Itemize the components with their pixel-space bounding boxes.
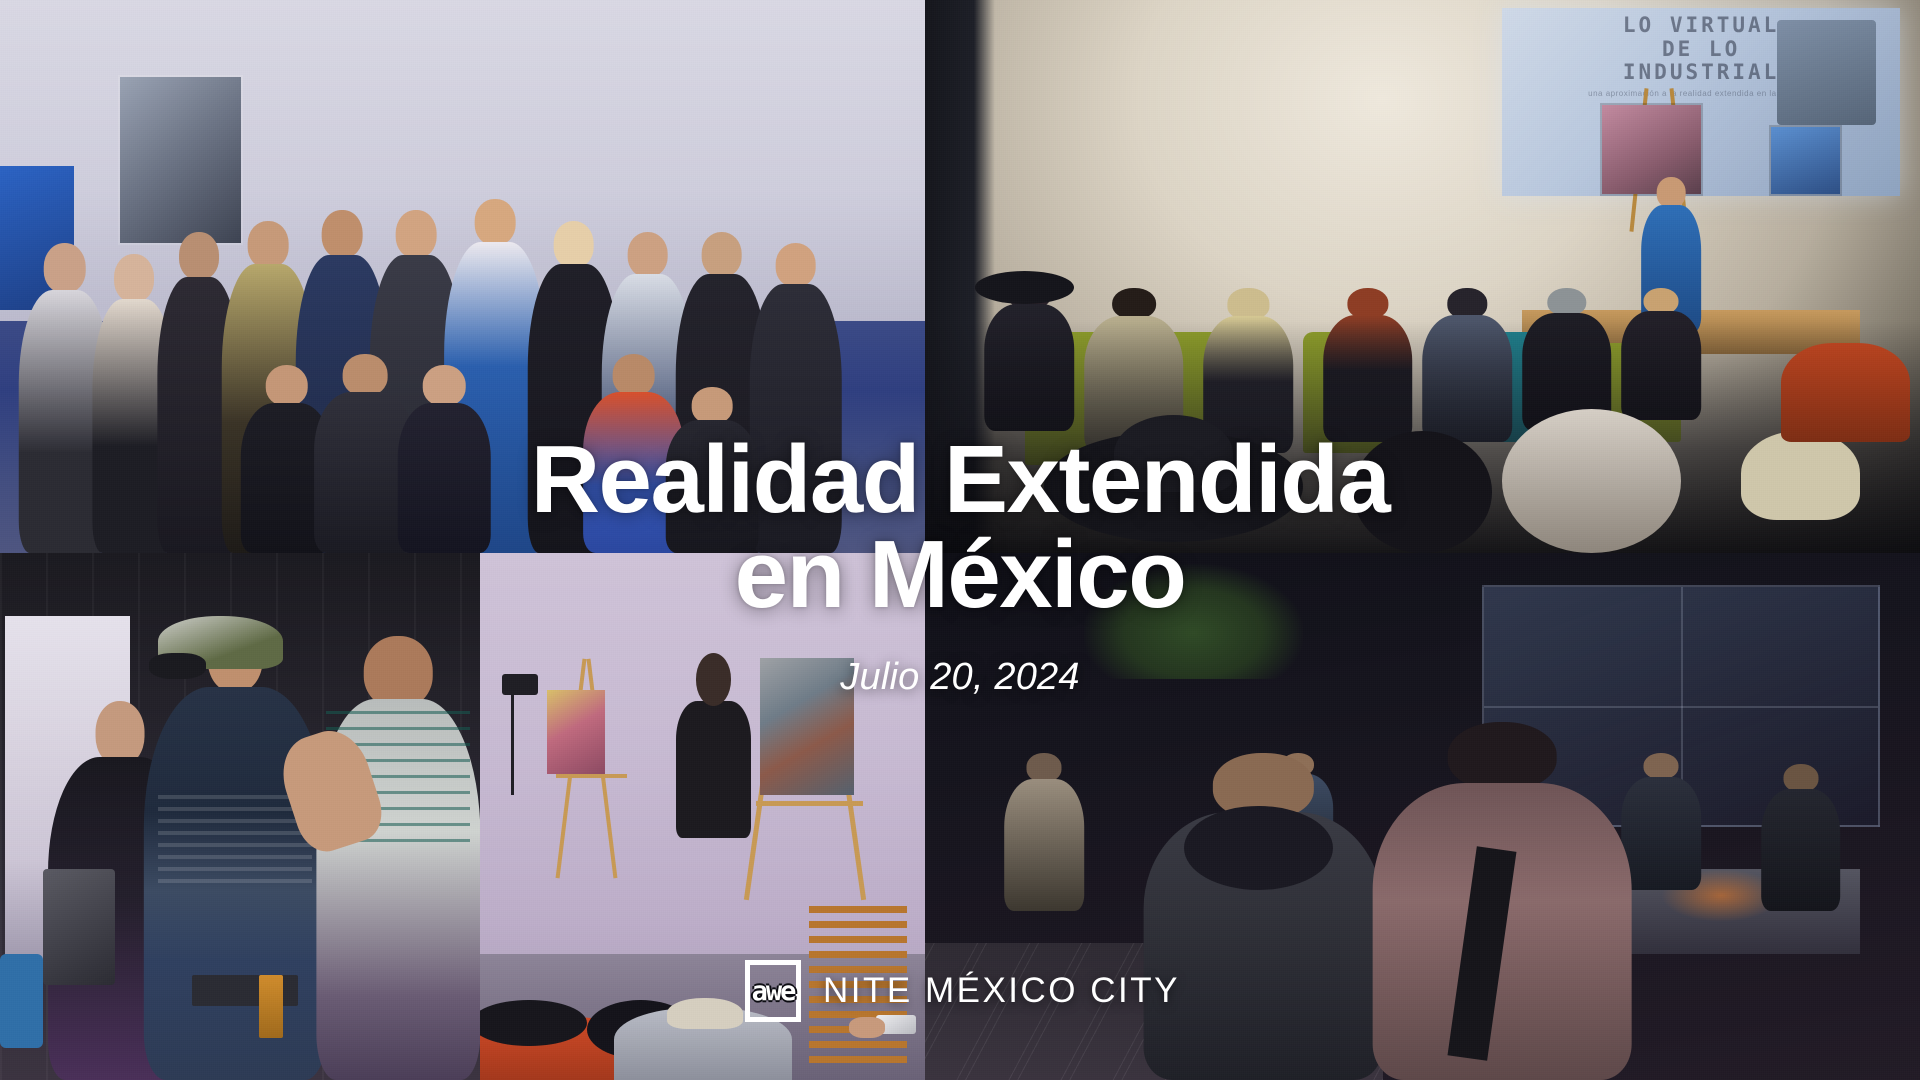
awe-logo-letters: awe: [740, 977, 806, 1005]
event-poster: LO VIRTUAL DE LO INDUSTRIAL una aproxima…: [0, 0, 1920, 1080]
page-title: Realidad Extendida en México: [0, 432, 1920, 622]
brand-lockup: awe NITE MÉXICO CITY: [0, 958, 1920, 1024]
text-overlay: Realidad Extendida en México Julio 20, 2…: [0, 0, 1920, 1080]
event-date: Julio 20, 2024: [0, 656, 1920, 699]
brand-name: NITE MÉXICO CITY: [823, 971, 1180, 1011]
awe-logo-icon: awe: [740, 958, 806, 1024]
